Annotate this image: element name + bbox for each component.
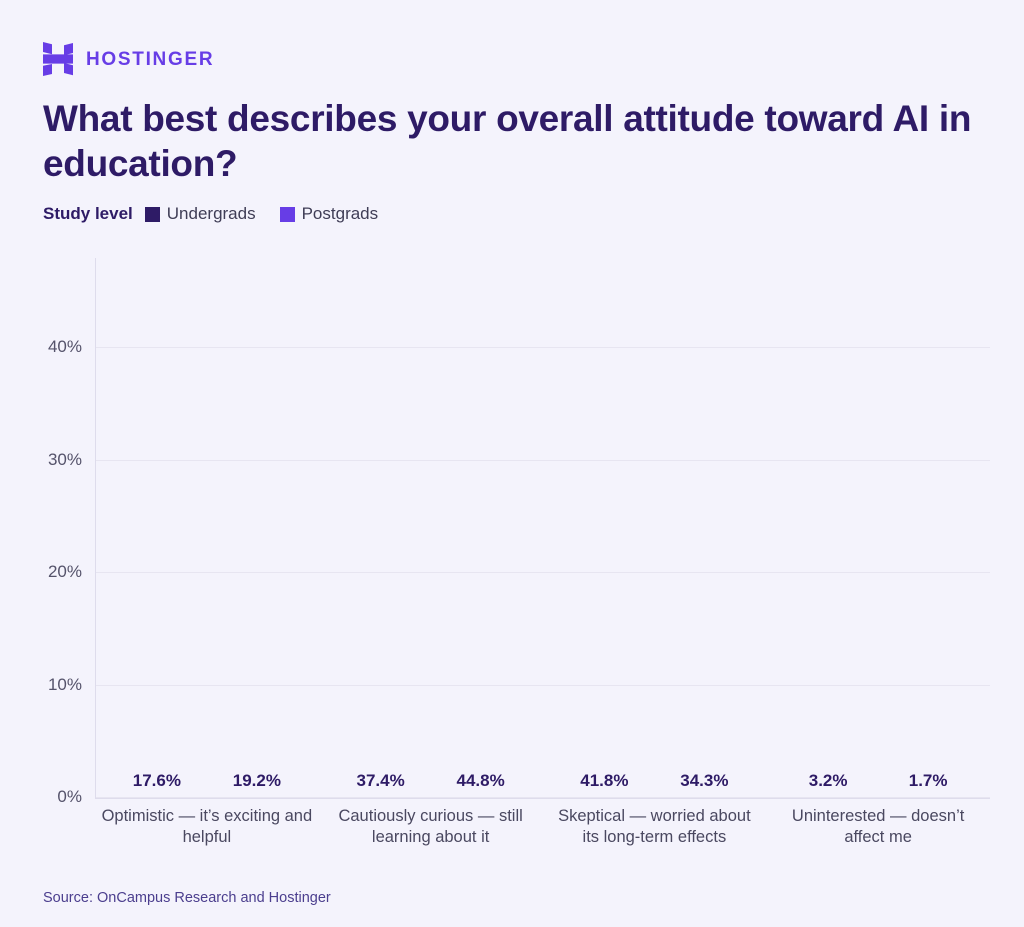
bar-group: 17.6%19.2% [95, 258, 319, 798]
bar-group: 3.2%1.7% [766, 258, 990, 798]
bar-value-label: 1.7% [878, 771, 978, 791]
y-axis-tick-label: 30% [48, 450, 82, 470]
x-axis-line [95, 798, 990, 799]
bar-group: 37.4%44.8% [319, 258, 543, 798]
bar-value-label: 41.8% [554, 771, 654, 791]
bar-groups: 17.6%19.2%37.4%44.8%41.8%34.3%3.2%1.7% [95, 258, 990, 798]
y-axis-tick-label: 20% [48, 562, 82, 582]
source-note: Source: OnCampus Research and Hostinger [43, 890, 331, 906]
x-axis-category-label: Optimistic — it’s exciting and helpful [95, 806, 319, 849]
x-axis-category-label: Skeptical — worried about its long-term … [543, 806, 767, 849]
bar-value-label: 37.4% [331, 771, 431, 791]
bar-value-label: 34.3% [654, 771, 754, 791]
y-axis-tick-label: 40% [48, 337, 82, 357]
bar-chart: 0%10%20%30%40% 17.6%19.2%37.4%44.8%41.8%… [0, 0, 1024, 927]
bar-group: 41.8%34.3% [543, 258, 767, 798]
bar-value-label: 3.2% [778, 771, 878, 791]
x-axis-category-label: Cautiously curious — still learning abou… [319, 806, 543, 849]
chart-page: HOSTINGER What best describes your overa… [0, 0, 1024, 927]
x-axis-category-label: Uninterested — doesn’t affect me [766, 806, 990, 849]
y-axis-tick-label: 0% [57, 787, 82, 807]
bar-value-label: 44.8% [431, 771, 531, 791]
x-axis-labels: Optimistic — it’s exciting and helpfulCa… [95, 806, 990, 849]
bar-value-label: 19.2% [207, 771, 307, 791]
y-axis-tick-label: 10% [48, 675, 82, 695]
bar-value-label: 17.6% [107, 771, 207, 791]
